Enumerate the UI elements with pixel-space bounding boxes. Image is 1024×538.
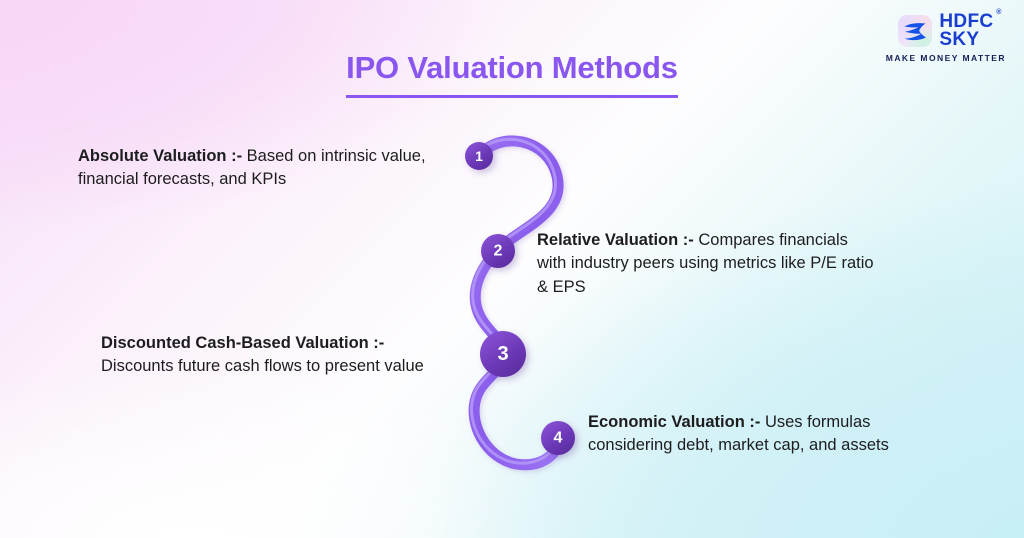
- flow-item-1-heading: Absolute Valuation :-: [78, 147, 242, 165]
- flow-item-3-heading: Discounted Cash-Based Valuation :-: [101, 334, 384, 352]
- flow-node-4-number: 4: [554, 430, 563, 447]
- flow-item-4-text: Economic Valuation :- Uses formulas cons…: [588, 411, 938, 458]
- flow-node-3-number: 3: [497, 343, 508, 365]
- flow-node-3[interactable]: 3: [480, 331, 526, 377]
- flow-node-2-number: 2: [494, 243, 503, 260]
- flow-item-3-body: Discounts future cash flows to present v…: [101, 357, 424, 375]
- infographic-canvas: HDFC SKY ® MAKE MONEY MATTER IPO Valuati…: [0, 0, 1024, 538]
- flow-item-3-text: Discounted Cash-Based Valuation :- Disco…: [101, 332, 457, 379]
- flow-item-2-heading: Relative Valuation :-: [537, 231, 694, 249]
- flow-ribbon: [471, 139, 560, 465]
- flow-node-1[interactable]: 1: [465, 142, 493, 170]
- flow-item-1-text: Absolute Valuation :- Based on intrinsic…: [78, 145, 450, 192]
- flow-item-4-heading: Economic Valuation :-: [588, 413, 760, 431]
- flow-item-2-text: Relative Valuation :- Compares financial…: [537, 229, 877, 299]
- flow-node-2[interactable]: 2: [481, 234, 515, 268]
- flow-node-1-number: 1: [475, 148, 483, 164]
- flow-node-4[interactable]: 4: [541, 421, 575, 455]
